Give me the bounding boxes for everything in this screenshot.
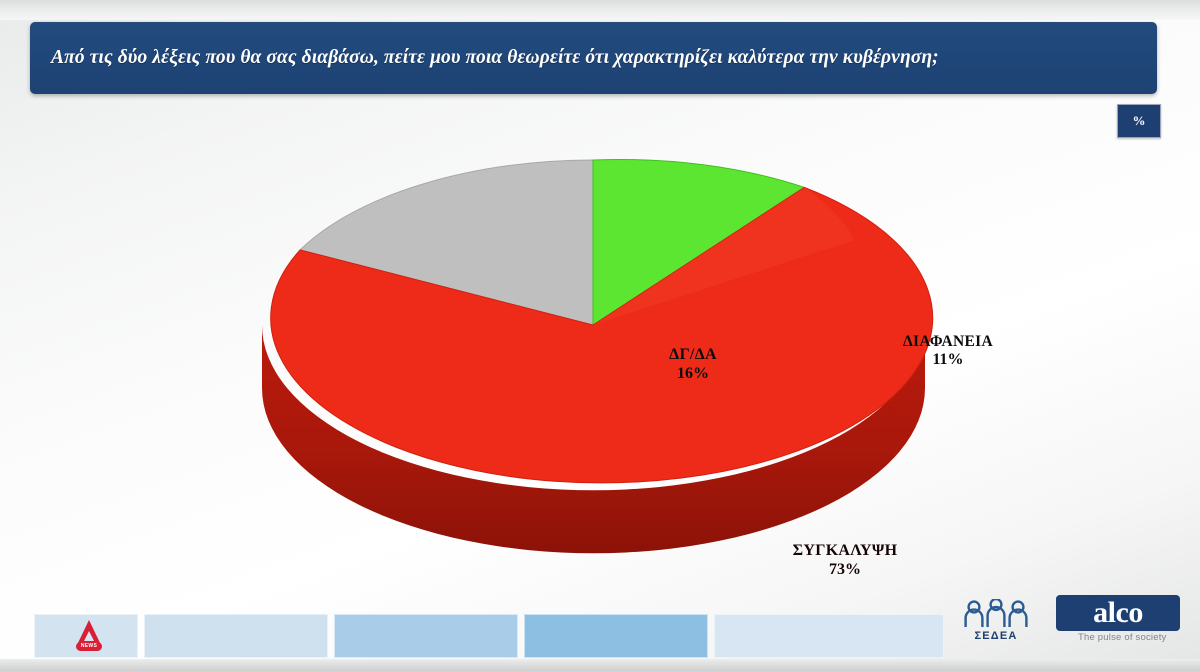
pie-chart-svg (255, 150, 935, 570)
footer-bar-4 (524, 614, 708, 658)
percent-unit-badge: % (1117, 104, 1161, 138)
alco-logo-box: alco (1056, 595, 1180, 631)
sedea-label: ΣΕΔΕΑ (952, 630, 1040, 642)
alco-tagline: The pulse of society (1078, 632, 1167, 643)
question-text: Από τις δύο λέξεις που θα σας διαβάσω, π… (30, 46, 953, 69)
top-edge-shade (0, 0, 1200, 20)
bottom-edge-shade (0, 659, 1200, 671)
alco-logo: alco The pulse of society (1056, 595, 1184, 647)
question-banner: Από τις δύο λέξεις που θα σας διαβάσω, π… (30, 22, 1157, 94)
footer-bar-5 (714, 614, 944, 658)
slide-footer: NEWS ΣΕΔΕΑ alco The pulse of society (0, 611, 1200, 659)
alpha-news-pill: NEWS (76, 642, 102, 651)
presentation-slide: Από τις δύο λέξεις που θα σας διαβάσω, π… (0, 0, 1200, 671)
pie-chart: ΔΙΑΦΑΝΕΙΑ 11% ΔΓ/ΔΑ 16% ΣΥΓΚΑΛΥΨΗ 73% (255, 150, 935, 570)
sedea-logo: ΣΕΔΕΑ (952, 599, 1040, 645)
footer-bar-2 (144, 614, 328, 658)
alco-wordmark: alco (1093, 598, 1143, 628)
alpha-news-logo-icon: NEWS (72, 620, 106, 652)
alpha-a-counter (84, 631, 94, 641)
percent-unit-label: % (1133, 113, 1146, 129)
sedea-people-icon (958, 599, 1034, 629)
footer-bar-3 (334, 614, 518, 658)
